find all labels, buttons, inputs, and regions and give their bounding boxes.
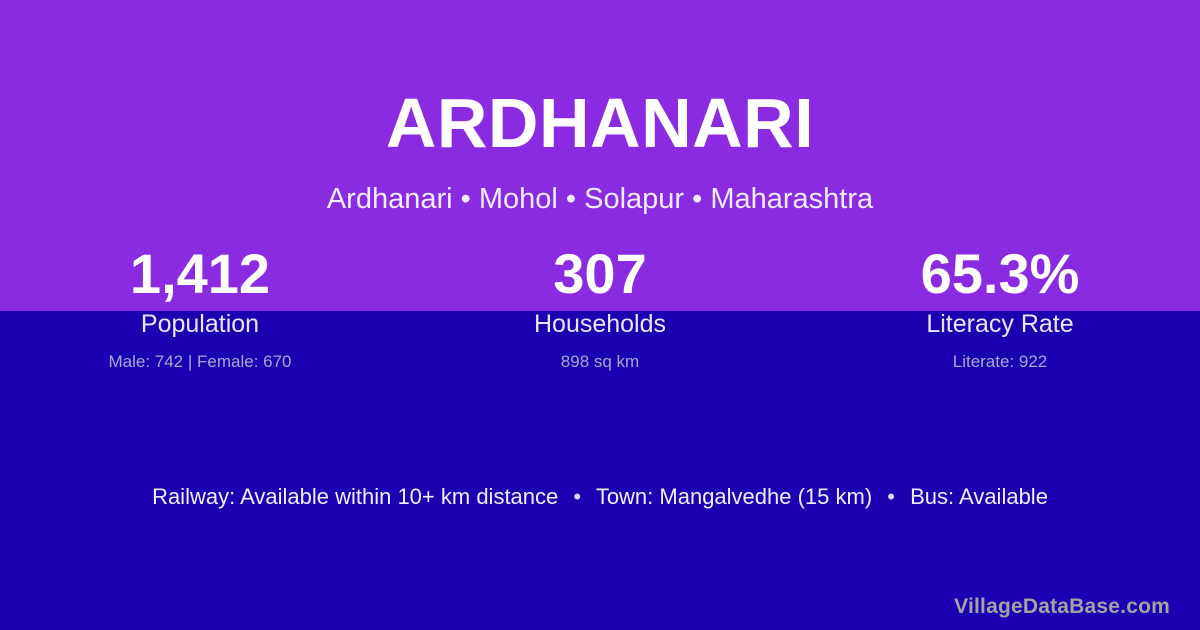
village-info-card: ARDHANARI Ardhanari • Mohol • Solapur • … [0, 0, 1200, 630]
stats-row: 1,412 Population Male: 742 | Female: 670… [0, 243, 1200, 374]
site-watermark: VillageDataBase.com [954, 595, 1170, 619]
stat-sublabel: Literate: 922 [800, 351, 1200, 373]
stat-households: 307 Households 898 sq km [400, 243, 800, 374]
facility-railway: Railway: Available within 10+ km distanc… [152, 484, 558, 509]
stat-value: 307 [400, 243, 800, 306]
stat-sublabel: 898 sq km [400, 351, 800, 373]
page-title: ARDHANARI [0, 88, 1200, 158]
stat-population: 1,412 Population Male: 742 | Female: 670 [0, 243, 400, 374]
breadcrumb: Ardhanari • Mohol • Solapur • Maharashtr… [0, 182, 1200, 217]
stat-label: Population [0, 308, 400, 342]
facilities-strip: Railway: Available within 10+ km distanc… [0, 483, 1200, 512]
facility-separator: • [564, 483, 590, 512]
stat-value: 1,412 [0, 243, 400, 306]
stat-label: Literacy Rate [800, 308, 1200, 342]
facility-bus: Bus: Available [910, 484, 1048, 509]
stat-label: Households [400, 308, 800, 342]
facility-separator: • [878, 483, 904, 512]
stat-value: 65.3% [800, 243, 1200, 306]
stat-sublabel: Male: 742 | Female: 670 [0, 351, 400, 373]
facility-town: Town: Mangalvedhe (15 km) [596, 484, 872, 509]
stat-literacy-rate: 65.3% Literacy Rate Literate: 922 [800, 243, 1200, 374]
